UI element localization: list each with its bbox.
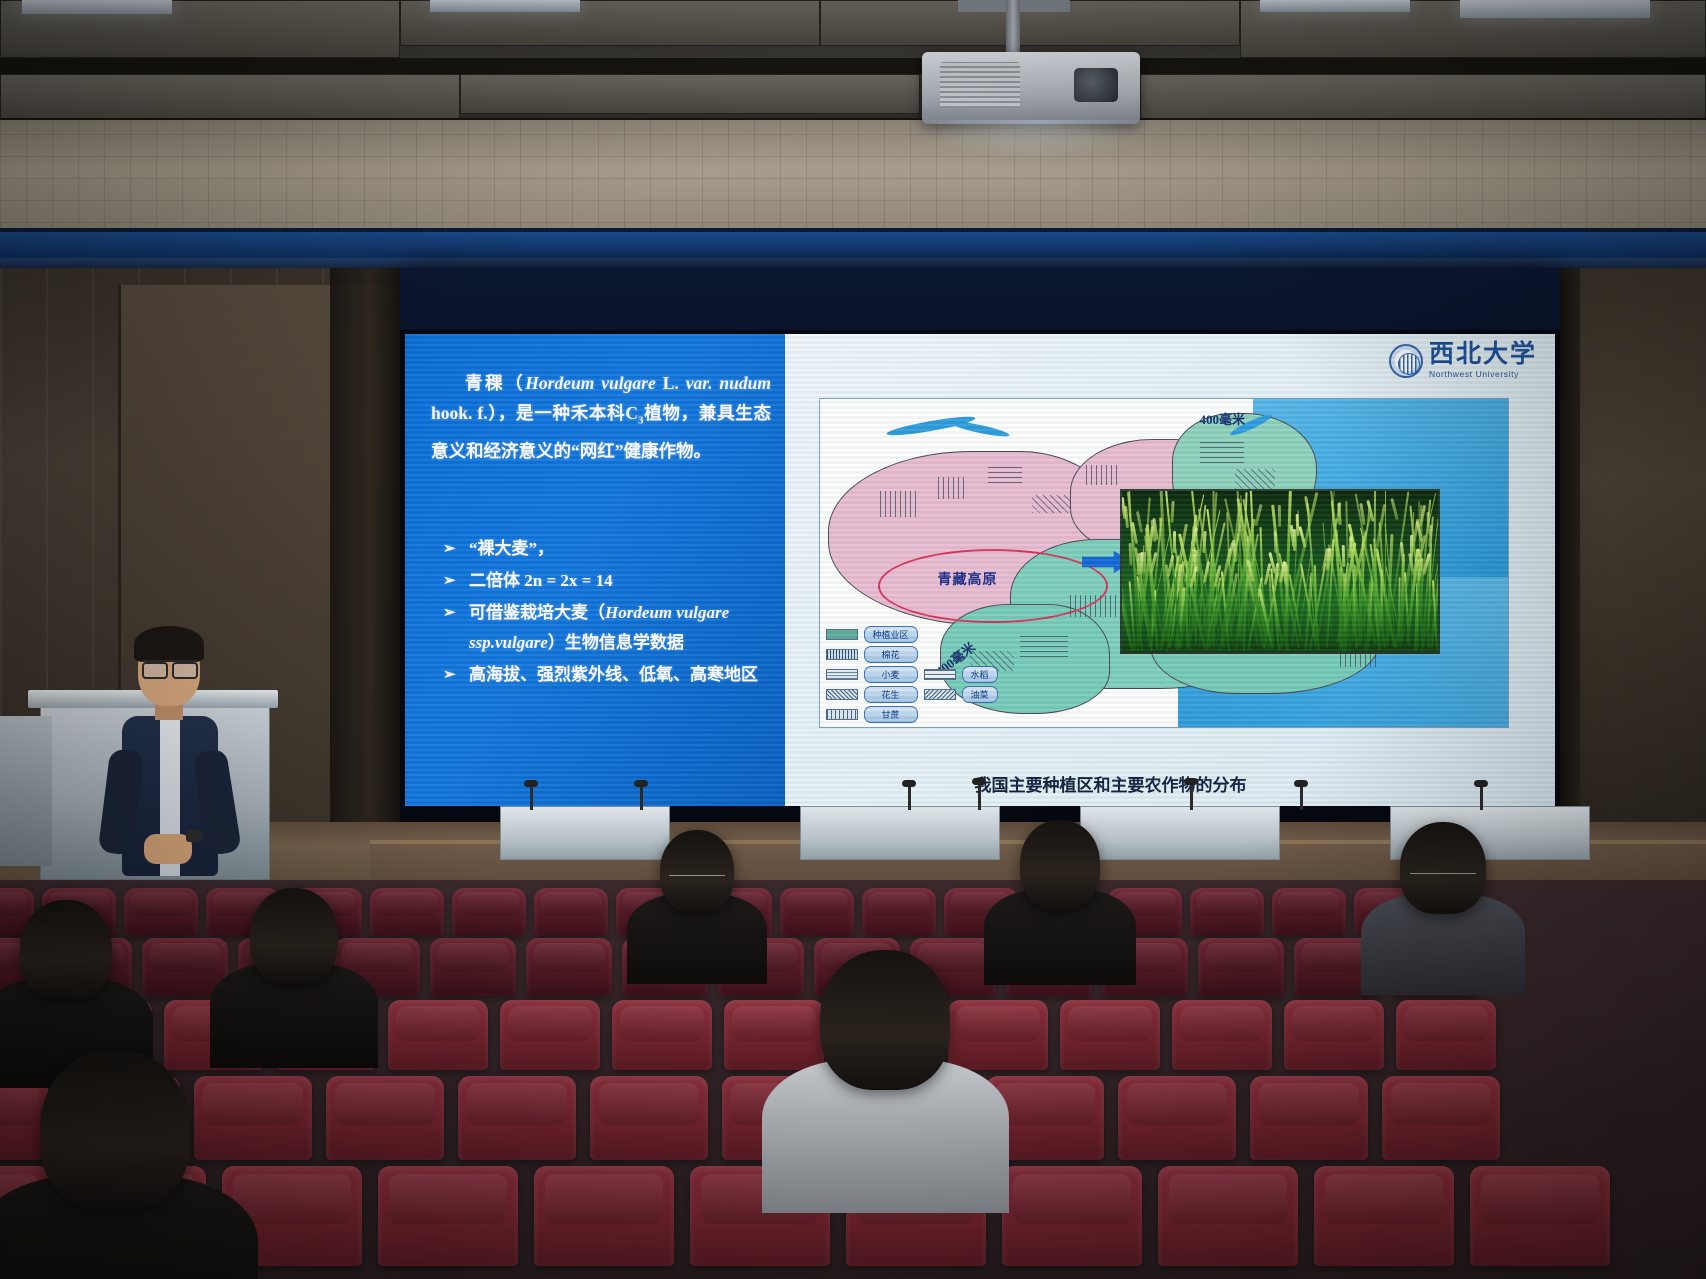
auditorium-seat bbox=[526, 938, 612, 996]
auditorium-seat bbox=[724, 1000, 824, 1070]
barley-ear bbox=[1342, 545, 1346, 567]
auditorium-seat bbox=[534, 888, 608, 936]
wall-light-strip bbox=[0, 232, 1706, 258]
lecture-hall-photo: 青稞（Hordeum vulgare L. var. nudum hook. f… bbox=[0, 0, 1706, 1279]
bullet-arrow-icon: ➢ bbox=[435, 534, 469, 564]
presenter-hair bbox=[134, 626, 204, 662]
audience-head bbox=[820, 950, 950, 1090]
upper-wall bbox=[0, 120, 1706, 245]
legend-swatch bbox=[924, 669, 956, 680]
audience-head bbox=[1400, 822, 1486, 914]
presenter-hands bbox=[144, 834, 192, 864]
auditorium-seat bbox=[378, 1166, 518, 1266]
logo-name-en: Northwest University bbox=[1429, 369, 1537, 379]
logo-name-cn: 西北大学 bbox=[1429, 342, 1537, 367]
barley-ear bbox=[1428, 525, 1433, 547]
auditorium-seat bbox=[1314, 1166, 1454, 1266]
barley-ear bbox=[1173, 531, 1176, 553]
auditorium-seat bbox=[194, 1076, 312, 1160]
bullet-text: 高海拔、强烈紫外线、低氧、高寒地区 bbox=[469, 660, 765, 690]
list-item: ➢ 可借鉴栽培大麦（Hordeum vulgare ssp.vulgare）生物… bbox=[435, 598, 765, 658]
auditorium-seat bbox=[1198, 938, 1284, 996]
presenter-glasses-icon bbox=[142, 660, 198, 673]
legend-label: 甘蔗 bbox=[864, 706, 918, 723]
slide-left-panel: 青稞（Hordeum vulgare L. var. nudum hook. f… bbox=[405, 334, 785, 806]
auditorium-seat bbox=[1272, 888, 1346, 936]
barley-ear bbox=[1143, 552, 1146, 574]
legend-label: 油菜 bbox=[962, 686, 998, 703]
audience-glasses-icon bbox=[1410, 873, 1475, 878]
projector-mount-pole bbox=[1006, 0, 1020, 56]
slide-paragraph: 青稞（Hordeum vulgare L. var. nudum hook. f… bbox=[431, 368, 771, 466]
list-item: ➢ 高海拔、强烈紫外线、低氧、高寒地区 bbox=[435, 660, 765, 690]
presentation-slide: 青稞（Hordeum vulgare L. var. nudum hook. f… bbox=[405, 334, 1555, 806]
projection-screen: 青稞（Hordeum vulgare L. var. nudum hook. f… bbox=[405, 334, 1555, 806]
presenter-speaker bbox=[60, 620, 270, 900]
barley-field-photo bbox=[1120, 489, 1440, 654]
screen-bezel bbox=[400, 268, 1560, 330]
auditorium-seat bbox=[534, 1166, 674, 1266]
barley-ear bbox=[1278, 505, 1281, 527]
audience-head bbox=[1020, 820, 1100, 908]
slide-right-panel: 西北大学 Northwest University bbox=[785, 334, 1556, 806]
legend-swatch bbox=[826, 709, 858, 720]
auditorium-seat bbox=[1172, 1000, 1272, 1070]
isohyet-label-north: 400毫米 bbox=[1200, 409, 1246, 428]
ceiling-projector bbox=[922, 52, 1140, 124]
barley-ear bbox=[1254, 504, 1262, 526]
auditorium-seat bbox=[370, 888, 444, 936]
barley-ear bbox=[1390, 497, 1398, 519]
auditorium-seat bbox=[612, 1000, 712, 1070]
auditorium-seat bbox=[1284, 1000, 1384, 1070]
auditorium-seat bbox=[458, 1076, 576, 1160]
barley-ear bbox=[1136, 511, 1143, 533]
audience-seating-area bbox=[0, 880, 1706, 1279]
projector-vents bbox=[940, 62, 1020, 108]
panel-desk bbox=[1080, 806, 1280, 860]
legend-swatch bbox=[826, 669, 858, 680]
list-item: ➢ 二倍体 2n = 2x = 14 bbox=[435, 566, 765, 596]
auditorium-seat bbox=[1470, 1166, 1610, 1266]
china-agriculture-map: 青藏高原 400毫米 400毫米 种植业区 棉花 bbox=[819, 398, 1509, 728]
barley-ear bbox=[1296, 514, 1300, 536]
map-caption: 我国主要种植区和主要农作物的分布 bbox=[975, 771, 1247, 796]
legend-label: 种植业区 bbox=[864, 626, 918, 643]
slide-bullet-list: ➢ “裸大麦”， ➢ 二倍体 2n = 2x = 14 ➢ 可借鉴栽培大麦（Ho… bbox=[435, 534, 765, 692]
university-seal-icon bbox=[1389, 344, 1423, 378]
auditorium-seat bbox=[430, 938, 516, 996]
auditorium-seat bbox=[948, 1000, 1048, 1070]
barley-ear bbox=[1400, 542, 1405, 564]
barley-ear bbox=[1171, 501, 1175, 523]
presenter-watch bbox=[186, 830, 202, 842]
legend-label: 水稻 bbox=[962, 666, 998, 683]
bullet-arrow-icon: ➢ bbox=[435, 566, 469, 596]
panel-desk bbox=[500, 806, 670, 860]
bullet-text: “裸大麦”， bbox=[469, 534, 765, 564]
auditorium-seat bbox=[1060, 1000, 1160, 1070]
auditorium-seat bbox=[1250, 1076, 1368, 1160]
legend-swatch bbox=[826, 689, 858, 700]
legend-swatch bbox=[826, 629, 858, 640]
audience-head bbox=[660, 830, 734, 912]
audience-glasses-icon bbox=[669, 875, 725, 880]
auditorium-seat bbox=[1396, 1000, 1496, 1070]
bullet-arrow-icon: ➢ bbox=[435, 598, 469, 658]
audience-head bbox=[20, 900, 112, 1000]
auditorium-seat bbox=[862, 888, 936, 936]
auditorium-seat bbox=[1382, 1076, 1500, 1160]
legend-label: 小麦 bbox=[864, 666, 918, 683]
map-legend: 种植业区 棉花 小麦 水稻 花生 油菜 bbox=[826, 626, 998, 723]
barley-ear bbox=[1304, 496, 1311, 518]
legend-swatch bbox=[924, 689, 956, 700]
projector-beam bbox=[905, 120, 1165, 160]
legend-label: 棉花 bbox=[864, 646, 918, 663]
audience-head bbox=[250, 888, 338, 984]
auditorium-seat bbox=[124, 888, 198, 936]
audience-head bbox=[40, 1050, 190, 1210]
auditorium-seat bbox=[452, 888, 526, 936]
list-item: ➢ “裸大麦”， bbox=[435, 534, 765, 564]
panel-desk bbox=[800, 806, 1000, 860]
lectern-side bbox=[0, 716, 52, 866]
legend-swatch bbox=[826, 649, 858, 660]
auditorium-seat bbox=[388, 1000, 488, 1070]
auditorium-seat bbox=[1118, 1076, 1236, 1160]
plateau-label: 青藏高原 bbox=[938, 569, 998, 589]
auditorium-seat bbox=[780, 888, 854, 936]
university-logo: 西北大学 Northwest University bbox=[1389, 342, 1537, 379]
auditorium-seat bbox=[1158, 1166, 1298, 1266]
bullet-text: 二倍体 2n = 2x = 14 bbox=[469, 566, 765, 596]
auditorium-seat bbox=[1190, 888, 1264, 936]
projector-lens bbox=[1074, 68, 1118, 102]
bullet-text: 可借鉴栽培大麦（Hordeum vulgare ssp.vulgare）生物信息… bbox=[469, 598, 765, 658]
auditorium-seat bbox=[1002, 1166, 1142, 1266]
auditorium-seat bbox=[590, 1076, 708, 1160]
legend-label: 花生 bbox=[864, 686, 918, 703]
auditorium-seat bbox=[500, 1000, 600, 1070]
auditorium-seat bbox=[326, 1076, 444, 1160]
left-curtain bbox=[330, 268, 410, 828]
bullet-arrow-icon: ➢ bbox=[435, 660, 469, 690]
